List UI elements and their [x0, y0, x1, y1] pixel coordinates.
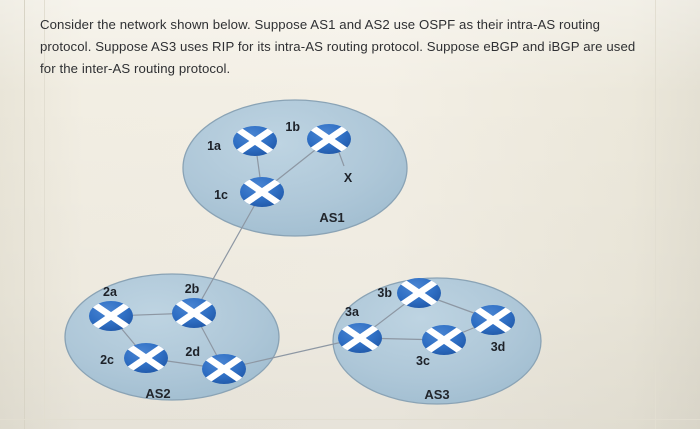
- router-label-2d: 2d: [185, 345, 200, 359]
- router-label-1b: 1b: [285, 120, 300, 134]
- router-label-2c: 2c: [100, 353, 114, 367]
- router-label-1a: 1a: [207, 139, 222, 153]
- router-label-2a: 2a: [103, 285, 118, 299]
- as-label-as1: AS1: [319, 210, 344, 225]
- router-2b[interactable]: [172, 298, 216, 328]
- as-label-as2: AS2: [145, 386, 170, 401]
- scanned-page: Consider the network shown below. Suppos…: [0, 0, 700, 429]
- router-label-3c: 3c: [416, 354, 430, 368]
- router-label-3d: 3d: [491, 340, 506, 354]
- router-label-2b: 2b: [185, 282, 200, 296]
- router-1b[interactable]: [307, 124, 351, 154]
- network-diagram: AS1AS2AS31a1b1c2a2b2c2d3a3b3c3dX: [0, 0, 700, 429]
- as-ellipse-as2: [65, 274, 279, 400]
- router-2d[interactable]: [202, 354, 246, 384]
- router-1c[interactable]: [240, 177, 284, 207]
- router-3c[interactable]: [422, 325, 466, 355]
- router-label-3b: 3b: [377, 286, 392, 300]
- router-2a[interactable]: [89, 301, 133, 331]
- router-1a[interactable]: [233, 126, 277, 156]
- host-label-x: X: [344, 171, 353, 185]
- router-3a[interactable]: [338, 323, 382, 353]
- router-3b[interactable]: [397, 278, 441, 308]
- router-label-3a: 3a: [345, 305, 360, 319]
- router-2c[interactable]: [124, 343, 168, 373]
- as-region-as2[interactable]: [65, 274, 279, 400]
- router-label-1c: 1c: [214, 188, 228, 202]
- router-3d[interactable]: [471, 305, 515, 335]
- as-label-as3: AS3: [424, 387, 449, 402]
